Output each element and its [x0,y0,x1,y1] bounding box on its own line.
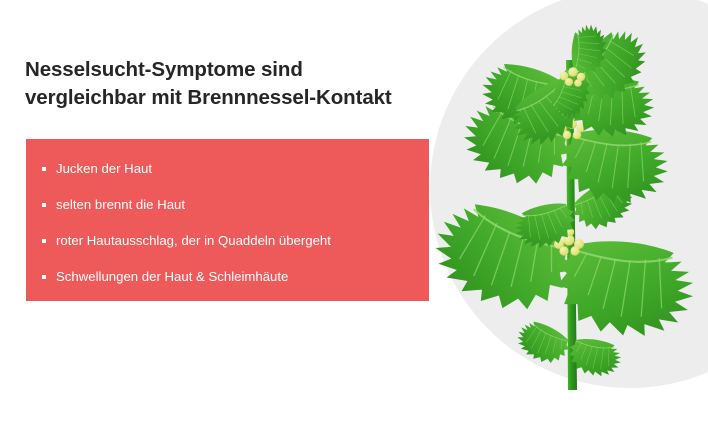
page-title-line-1: Nesselsucht-Symptome sind [25,56,455,84]
page-title: Nesselsucht-Symptome sind vergleichbar m… [25,56,455,112]
symptom-panel: Jucken der Haut selten brennt die Haut r… [26,139,429,301]
list-item: Jucken der Haut [42,161,411,177]
symptom-list: Jucken der Haut selten brennt die Haut r… [42,161,411,285]
infographic-canvas: Nesselsucht-Symptome sind vergleichbar m… [0,0,708,433]
page-title-line-2: vergleichbar mit Brennnessel-Kontakt [25,84,455,112]
list-item: roter Hautausschlag, der in Quaddeln übe… [42,233,411,249]
list-item-label: Jucken der Haut [56,161,152,176]
bullet-square-icon [42,275,46,279]
bullet-square-icon [42,239,46,243]
list-item-label: Schwellungen der Haut & Schleimhäute [56,269,288,284]
bullet-square-icon [42,167,46,171]
stinging-nettle-illustration [420,18,708,403]
list-item-label: selten brennt die Haut [56,197,185,212]
bullet-square-icon [42,203,46,207]
list-item: Schwellungen der Haut & Schleimhäute [42,269,411,285]
list-item-label: roter Hautausschlag, der in Quaddeln übe… [56,233,331,248]
list-item: selten brennt die Haut [42,197,411,213]
